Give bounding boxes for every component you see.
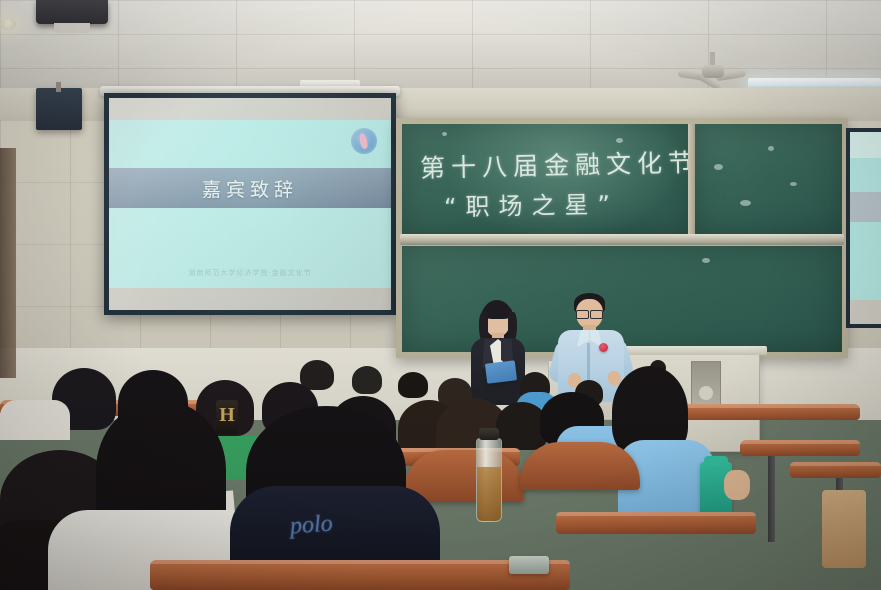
podium-control-panel bbox=[691, 361, 721, 405]
hair-clip-icon bbox=[216, 400, 238, 434]
slide-footer-text: 湘南师范大学经济学院·金融文化节 bbox=[109, 268, 391, 278]
event-logo-icon bbox=[351, 128, 377, 154]
blackboard-panel-upper-right bbox=[694, 124, 842, 234]
ceiling-projector-icon bbox=[36, 0, 108, 24]
projection-screen: 嘉宾致辞 湘南师范大学经济学院·金融文化节 bbox=[104, 93, 396, 315]
water-bottle-icon bbox=[476, 438, 502, 522]
desk-surface bbox=[660, 404, 860, 420]
ceiling-fan-icon bbox=[686, 52, 740, 88]
slide-title-band: 嘉宾致辞 bbox=[109, 168, 391, 208]
left-wall-edge bbox=[0, 148, 16, 378]
student-arm bbox=[724, 470, 750, 500]
desk-surface bbox=[556, 512, 756, 534]
blackboard-chalk-rail bbox=[400, 234, 844, 245]
smartphone-icon bbox=[509, 556, 549, 574]
blue-folder bbox=[485, 360, 517, 384]
bottle-cap bbox=[479, 428, 499, 440]
ceiling-lamp-icon bbox=[0, 18, 16, 30]
student-head bbox=[352, 366, 382, 394]
student-body bbox=[0, 400, 70, 440]
chalk-line-1: 第十八届金融文化节 bbox=[420, 143, 690, 185]
presentation-slide: 嘉宾致辞 湘南师范大学经济学院·金融文化节 bbox=[109, 120, 391, 288]
blackboard-divider bbox=[688, 124, 695, 234]
speaker-bracket bbox=[56, 82, 61, 92]
slide-title-text: 嘉宾致辞 bbox=[202, 175, 298, 202]
desk-leg bbox=[768, 456, 775, 542]
blackboard-panel-upper-left: 第十八届金融文化节 “职场之星” bbox=[402, 124, 690, 234]
wall-speaker-icon bbox=[36, 88, 82, 130]
classroom-photo: 嘉宾致辞 湘南师范大学经济学院·金融文化节 第十八届金融文化节 “职场之星” bbox=[0, 0, 881, 590]
red-badge-icon bbox=[599, 343, 608, 352]
eyeglasses-icon bbox=[576, 310, 603, 317]
chair-back bbox=[404, 450, 524, 502]
desk-surface bbox=[740, 440, 860, 456]
chair-seat bbox=[822, 490, 866, 568]
ceiling bbox=[0, 0, 881, 92]
shirt-print-text: polo bbox=[289, 511, 333, 541]
desk-surface-foreground bbox=[150, 560, 570, 590]
secondary-projection-screen bbox=[846, 128, 881, 328]
chair-back bbox=[520, 442, 640, 490]
chalk-line-2: “职场之星” bbox=[444, 184, 619, 222]
student-head bbox=[398, 372, 428, 398]
desk-surface bbox=[790, 462, 881, 478]
